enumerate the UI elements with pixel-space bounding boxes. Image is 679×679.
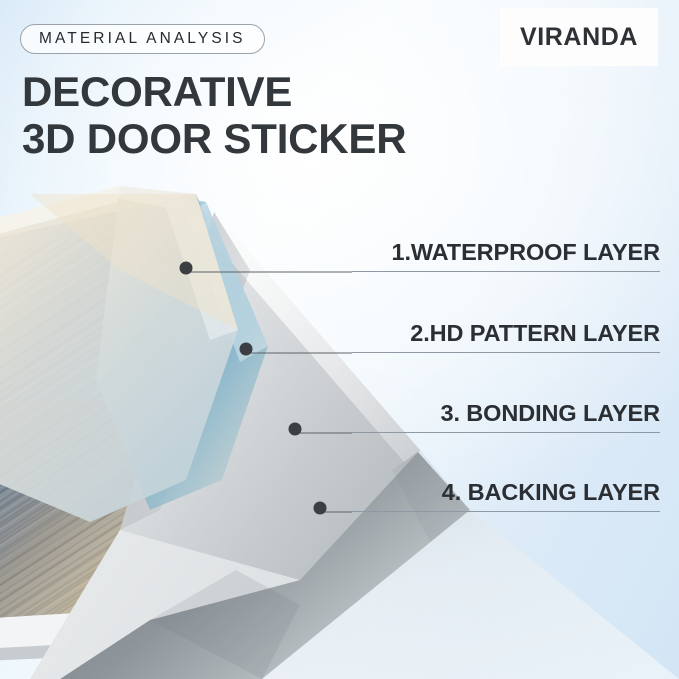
- material-analysis-poster: 1.WATERPROOF LAYER 2.HD PATTERN LAYER 3.…: [0, 0, 679, 679]
- badge-label: MATERIAL ANALYSIS: [39, 30, 246, 48]
- callout-label-4: 4. BACKING LAYER: [442, 479, 660, 506]
- page-title: DECORATIVE 3D DOOR STICKER: [22, 68, 492, 162]
- callout-rule-3: [352, 432, 660, 433]
- brand-name: VIRANDA: [520, 23, 638, 52]
- brand-logo: VIRANDA: [501, 9, 657, 65]
- callout-backing-layer[interactable]: 4. BACKING LAYER: [352, 478, 660, 512]
- callout-bonding-layer[interactable]: 3. BONDING LAYER: [352, 399, 660, 433]
- page-title-line-1: DECORATIVE: [22, 68, 292, 115]
- callout-hd-pattern-layer[interactable]: 2.HD PATTERN LAYER: [352, 319, 660, 353]
- callout-label-2: 2.HD PATTERN LAYER: [410, 320, 660, 347]
- callout-waterproof-layer[interactable]: 1.WATERPROOF LAYER: [352, 238, 660, 272]
- callout-rule-4: [352, 511, 660, 512]
- callout-label-1: 1.WATERPROOF LAYER: [392, 239, 661, 266]
- callout-label-3: 3. BONDING LAYER: [440, 400, 660, 427]
- page-title-line-2: 3D DOOR STICKER: [22, 115, 492, 162]
- callout-rule-1: [352, 271, 660, 272]
- material-analysis-badge: MATERIAL ANALYSIS: [20, 24, 265, 54]
- callout-rule-2: [352, 352, 660, 353]
